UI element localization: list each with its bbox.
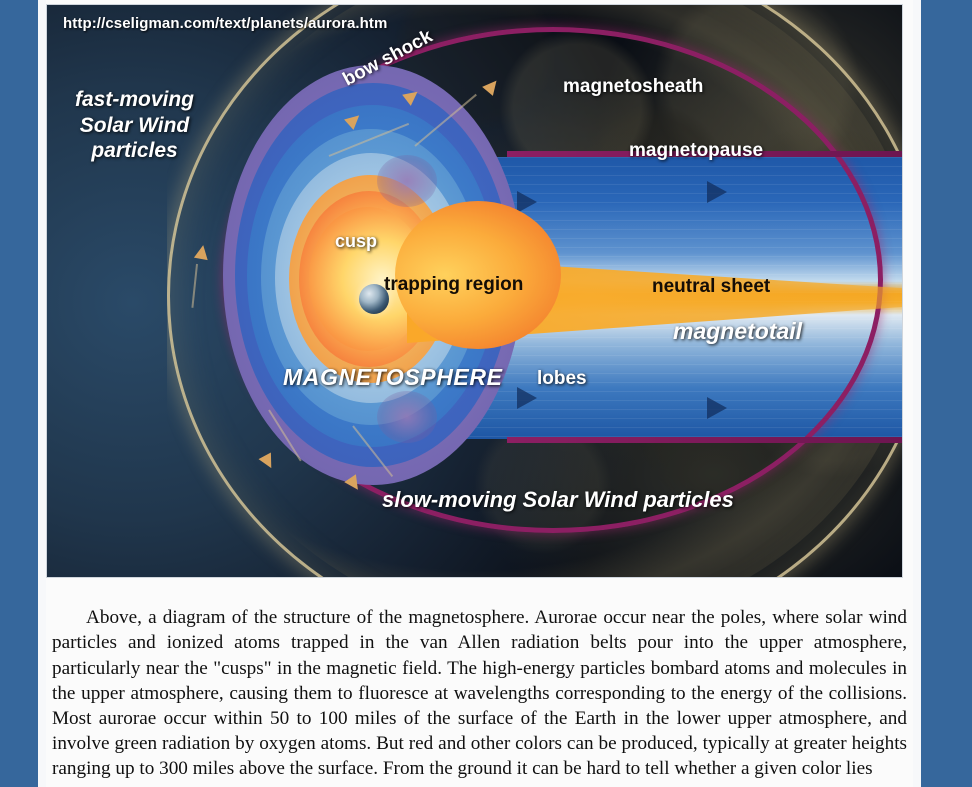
cusp-north (377, 155, 437, 207)
label-fast-line-2: Solar Wind (75, 113, 194, 139)
label-magnetopause: magnetopause (629, 139, 763, 162)
label-magnetosphere: MAGNETOSPHERE (283, 363, 503, 391)
label-magnetotail: magnetotail (673, 317, 802, 345)
lobe-chevron-icon (517, 387, 537, 409)
label-magnetosheath: magnetosheath (563, 75, 703, 98)
label-fast-line-1: fast-moving (75, 87, 194, 113)
page-root: fast-moving Solar Wind particles bow sho… (0, 0, 972, 787)
figure-caption-paragraph: Above, a diagram of the structure of the… (52, 605, 907, 781)
content-column: fast-moving Solar Wind particles bow sho… (46, 0, 913, 787)
lobe-chevron-icon (707, 181, 727, 203)
label-trapping-region: trapping region (384, 273, 523, 296)
label-neutral-sheet: neutral sheet (652, 275, 770, 298)
cusp-south (377, 391, 437, 443)
right-gutter (913, 0, 921, 787)
solar-wind-arrow-icon (194, 244, 210, 260)
label-fast-line-3: particles (75, 138, 194, 164)
label-cusp: cusp (335, 231, 377, 253)
label-lobes: lobes (537, 367, 587, 390)
lobe-chevron-icon (517, 191, 537, 213)
left-blue-band (0, 0, 38, 787)
magnetopause-bottom-edge (507, 437, 903, 443)
lobe-chevron-icon (707, 397, 727, 419)
left-gutter (38, 0, 46, 787)
right-blue-band (913, 0, 972, 787)
label-slow-solar-wind: slow-moving Solar Wind particles (382, 487, 734, 514)
magnetosphere-diagram-figure: fast-moving Solar Wind particles bow sho… (46, 4, 903, 578)
url-overlay-text: http://cseligman.com/text/planets/aurora… (63, 15, 387, 32)
label-fast-solar-wind: fast-moving Solar Wind particles (75, 87, 194, 164)
